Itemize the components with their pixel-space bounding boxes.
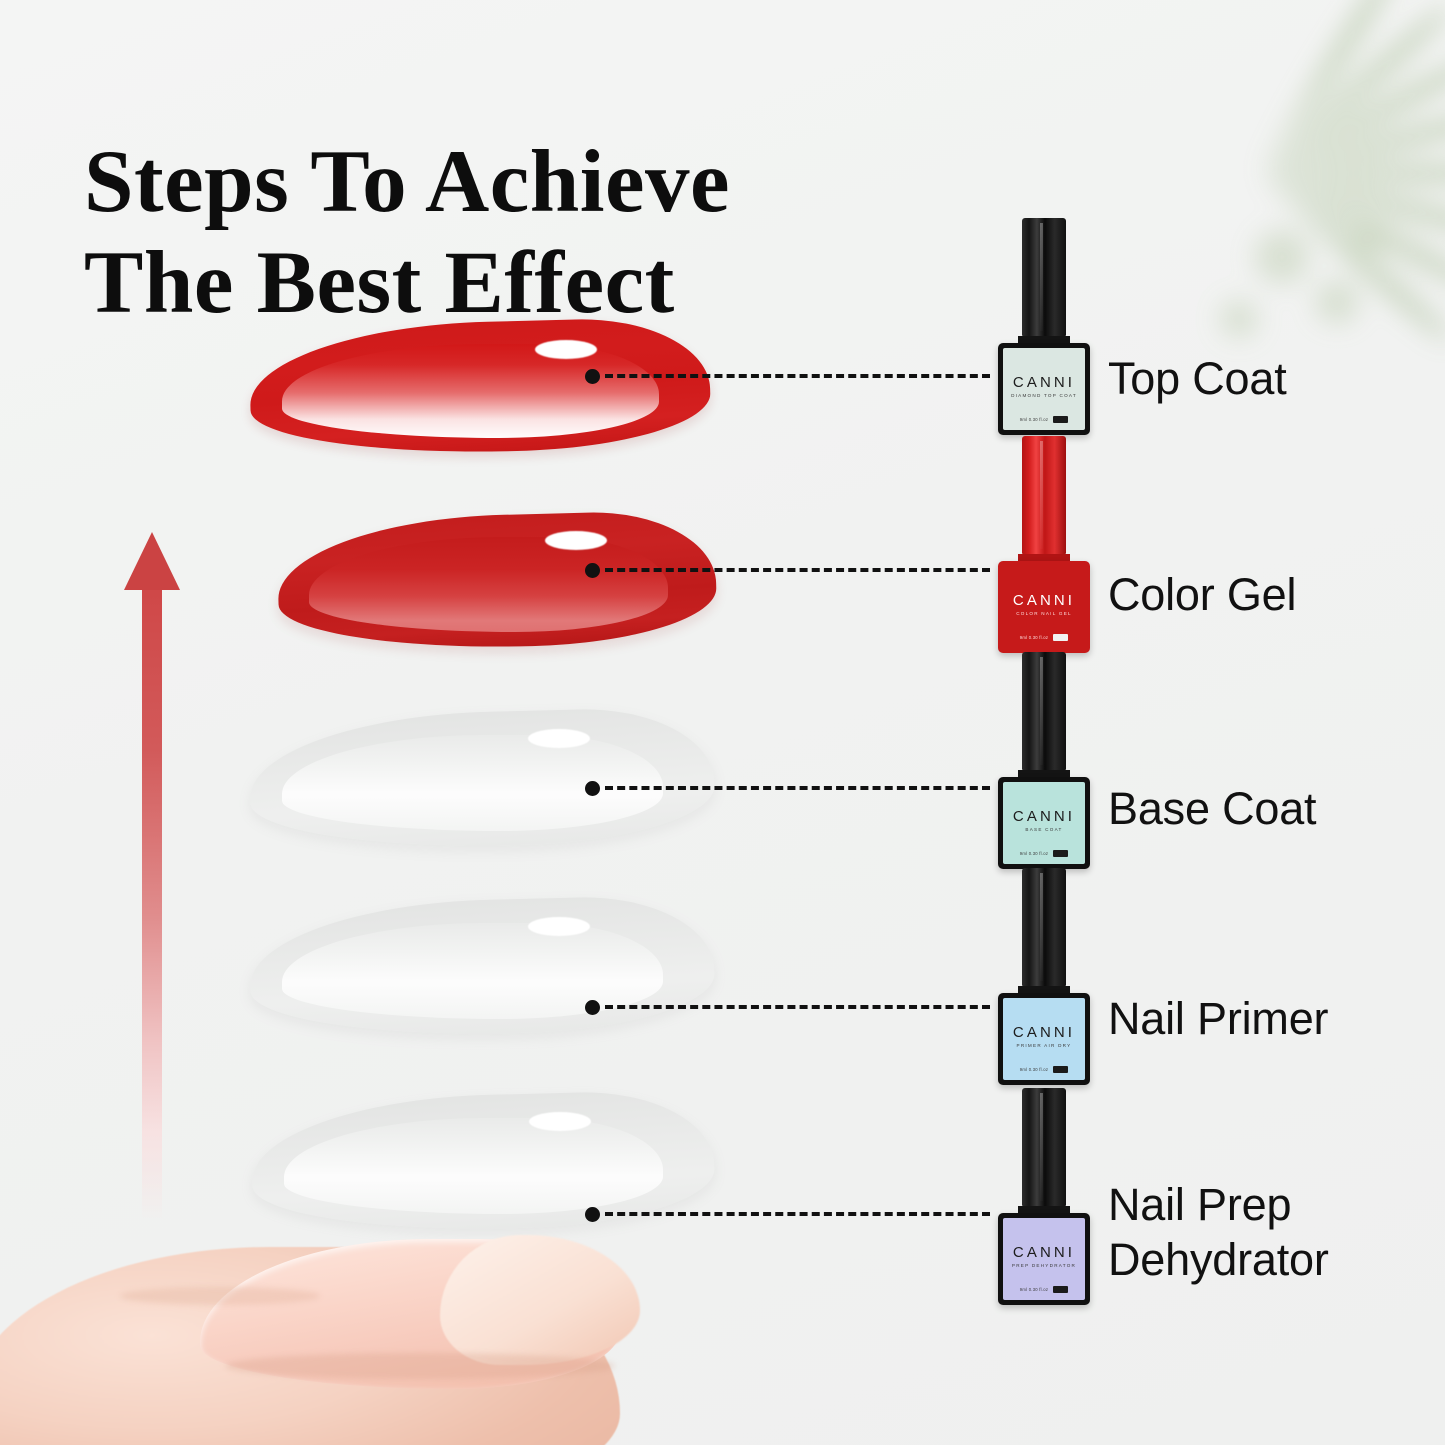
bottle-volume: 9ml 0.30 fl.oz: [1020, 1067, 1048, 1072]
barcode-icon: [1053, 1066, 1068, 1073]
bottle-volume: 9ml 0.30 fl.oz: [1020, 635, 1048, 640]
bottle-volume-row: 9ml 0.30 fl.oz: [1003, 634, 1085, 641]
bottle-neck: [1018, 554, 1070, 561]
connector-dashed-line: [605, 568, 990, 572]
bottle-product-name: PRIMER AIR DRY: [1017, 1044, 1072, 1049]
bottle-cap: [1022, 218, 1066, 336]
page-title-line-2: The Best Effect: [84, 233, 924, 334]
bottle-cap: [1022, 868, 1066, 986]
connector-dashed-line: [605, 1212, 990, 1216]
bottle-body: CANNI PRIMER AIR DRY 9ml 0.30 fl.oz: [998, 993, 1090, 1085]
bottle-brand: CANNI: [1013, 375, 1075, 390]
page-title-line-1: Steps To Achieve: [84, 133, 730, 231]
bottle-volume: 9ml 0.30 fl.oz: [1020, 417, 1048, 422]
bottle-neck: [1018, 770, 1070, 777]
bottle-cap: [1022, 652, 1066, 770]
bottle-volume: 9ml 0.30 fl.oz: [1020, 1287, 1048, 1292]
bottle-volume-row: 9ml 0.30 fl.oz: [1003, 1286, 1085, 1293]
product-bottle-base-coat[interactable]: CANNI BASE COAT 9ml 0.30 fl.oz: [998, 652, 1090, 869]
connector-dashed-line: [605, 374, 990, 378]
step-label-top-coat: Top Coat: [1108, 352, 1287, 407]
finger-tip-highlight: [440, 1235, 640, 1365]
arrow-shaft: [142, 584, 162, 1222]
bottle-product-name: COLOR NAIL GEL: [1016, 612, 1072, 617]
bottle-label: CANNI PREP DEHYDRATOR 9ml 0.30 fl.oz: [1003, 1218, 1085, 1300]
barcode-icon: [1053, 416, 1068, 423]
connector-color-gel: [585, 563, 990, 577]
bottle-label: CANNI PRIMER AIR DRY 9ml 0.30 fl.oz: [1003, 998, 1085, 1080]
finger-knuckle-crease: [120, 1287, 320, 1305]
step-label-nail-prep-dehydrator: Nail Prep Dehydrator: [1108, 1178, 1329, 1288]
bottle-product-name: PREP DEHYDRATOR: [1012, 1264, 1076, 1269]
step-label-base-coat: Base Coat: [1108, 782, 1316, 837]
bottle-product-name: BASE COAT: [1025, 828, 1062, 833]
bottle-label: CANNI DIAMOND TOP COAT 9ml 0.30 fl.oz: [1003, 348, 1085, 430]
step-label-nail-primer: Nail Primer: [1108, 992, 1328, 1047]
nail-layer-color-gel: [278, 515, 716, 647]
bottle-volume-row: 9ml 0.30 fl.oz: [1003, 850, 1085, 857]
nail-layer-top-coat: [250, 322, 710, 452]
connector-nail-prep-dehydrator: [585, 1207, 990, 1221]
connector-base-coat: [585, 781, 990, 795]
page-title: Steps To Achieve The Best Effect: [84, 132, 924, 335]
barcode-icon: [1053, 634, 1068, 641]
nail-layer-base-coat: [250, 712, 714, 846]
bottle-neck: [1018, 1206, 1070, 1213]
connector-dot: [585, 369, 600, 384]
bottle-neck: [1018, 336, 1070, 343]
connector-nail-primer: [585, 1000, 990, 1014]
bottle-product-name: DIAMOND TOP COAT: [1011, 394, 1077, 399]
bottle-volume-row: 9ml 0.30 fl.oz: [1003, 416, 1085, 423]
arrow-head-icon: [124, 532, 180, 590]
bottle-volume-row: 9ml 0.30 fl.oz: [1003, 1066, 1085, 1073]
connector-dot: [585, 781, 600, 796]
barcode-icon: [1053, 850, 1068, 857]
bottle-cap: [1022, 436, 1066, 554]
product-bottle-top-coat[interactable]: CANNI DIAMOND TOP COAT 9ml 0.30 fl.oz: [998, 218, 1090, 435]
bottle-body: CANNI DIAMOND TOP COAT 9ml 0.30 fl.oz: [998, 343, 1090, 435]
bottle-cap: [1022, 1088, 1066, 1206]
bottle-volume: 9ml 0.30 fl.oz: [1020, 851, 1048, 856]
bottle-brand: CANNI: [1013, 1245, 1075, 1260]
bottle-brand: CANNI: [1013, 809, 1075, 824]
bottle-brand: CANNI: [1013, 1025, 1075, 1040]
bottle-brand: CANNI: [1013, 593, 1075, 608]
connector-dot: [585, 563, 600, 578]
bottle-neck: [1018, 986, 1070, 993]
bottle-body: CANNI BASE COAT 9ml 0.30 fl.oz: [998, 777, 1090, 869]
product-bottle-nail-primer[interactable]: CANNI PRIMER AIR DRY 9ml 0.30 fl.oz: [998, 868, 1090, 1085]
connector-dashed-line: [605, 786, 990, 790]
barcode-icon: [1053, 1286, 1068, 1293]
product-bottle-nail-prep-dehydrator[interactable]: CANNI PREP DEHYDRATOR 9ml 0.30 fl.oz: [998, 1088, 1090, 1305]
connector-dashed-line: [605, 1005, 990, 1009]
finger-crease: [225, 1353, 615, 1379]
connector-top-coat: [585, 369, 990, 383]
product-bottle-color-gel[interactable]: CANNI COLOR NAIL GEL 9ml 0.30 fl.oz: [998, 436, 1090, 653]
nail-highlight-icon: [545, 531, 607, 550]
connector-dot: [585, 1207, 600, 1222]
connector-dot: [585, 1000, 600, 1015]
fingertip-photo: [0, 1195, 670, 1445]
bottle-label: CANNI COLOR NAIL GEL 9ml 0.30 fl.oz: [1003, 566, 1085, 648]
upward-progress-arrow: [124, 532, 180, 1222]
bottle-label: CANNI BASE COAT 9ml 0.30 fl.oz: [1003, 782, 1085, 864]
step-label-color-gel: Color Gel: [1108, 568, 1296, 623]
infographic-canvas: Steps To Achieve The Best Effect: [0, 0, 1445, 1445]
bottle-body: CANNI PREP DEHYDRATOR 9ml 0.30 fl.oz: [998, 1213, 1090, 1305]
bottle-body: CANNI COLOR NAIL GEL 9ml 0.30 fl.oz: [998, 561, 1090, 653]
